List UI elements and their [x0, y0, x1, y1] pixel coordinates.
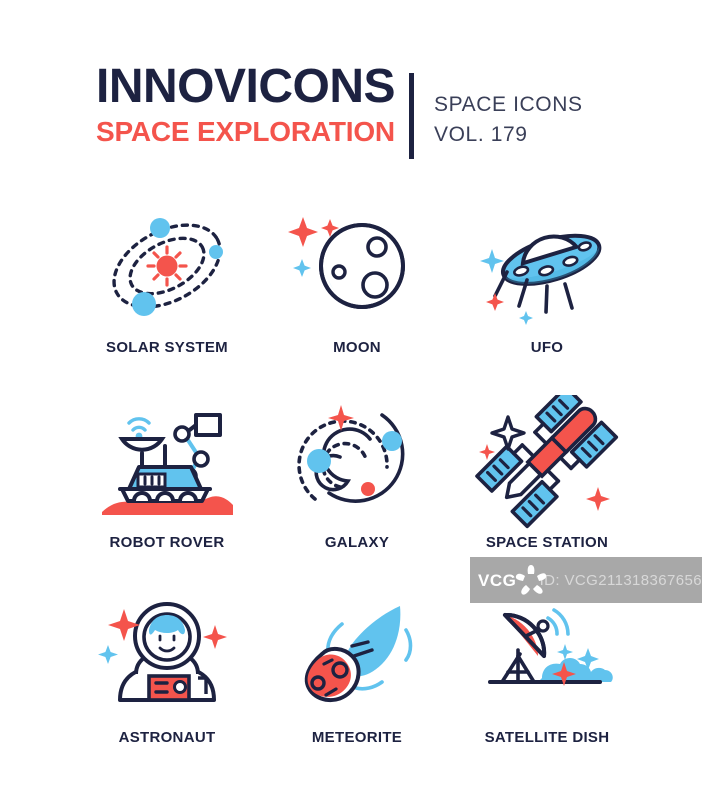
icon-label: ROBOT ROVER	[110, 534, 225, 551]
icon-label: MOON	[333, 339, 381, 356]
icon-label: UFO	[531, 339, 564, 356]
astronaut-icon	[92, 590, 242, 725]
robot-rover-icon	[92, 395, 242, 530]
watermark-logo-text: VCG	[478, 572, 516, 589]
collection-name: SPACE ICONS	[434, 90, 583, 120]
ufo-icon	[472, 200, 622, 335]
watermark-id-text: ID: VCG211318367656	[540, 572, 702, 589]
icon-label: GALAXY	[325, 534, 389, 551]
icon-label: SPACE STATION	[486, 534, 608, 551]
icon-grid: SOLAR SYSTEM	[0, 200, 702, 785]
vcg-flower-icon: VCG	[470, 557, 532, 603]
space-station-icon	[472, 395, 622, 530]
poster-canvas: INNOVICONS SPACE EXPLORATION SPACE ICONS…	[0, 0, 702, 800]
brand-block: INNOVICONS SPACE EXPLORATION	[96, 62, 396, 148]
meta-block: SPACE ICONS VOL. 179	[434, 90, 583, 150]
galaxy-icon	[282, 395, 432, 530]
meteorite-icon	[282, 590, 432, 725]
brand-title: INNOVICONS	[96, 62, 396, 112]
watermark-banner: VCG ID: VCG211318367656	[470, 557, 702, 603]
icon-cell-galaxy[interactable]: GALAXY	[262, 395, 452, 590]
icon-label: METEORITE	[312, 729, 402, 746]
satellite-dish-icon	[472, 590, 622, 725]
icon-label: SOLAR SYSTEM	[106, 339, 228, 356]
icon-cell-robot-rover[interactable]: ROBOT ROVER	[72, 395, 262, 590]
icon-row: SOLAR SYSTEM	[0, 200, 702, 395]
collection-volume: VOL. 179	[434, 120, 583, 150]
icon-cell-satellite-dish[interactable]: SATELLITE DISH	[452, 590, 642, 785]
flower-glyph	[514, 563, 548, 597]
icon-cell-solar-system[interactable]: SOLAR SYSTEM	[72, 200, 262, 395]
icon-cell-ufo[interactable]: UFO	[452, 200, 642, 395]
icon-label: SATELLITE DISH	[485, 729, 610, 746]
icon-label: ASTRONAUT	[119, 729, 216, 746]
brand-subtitle: SPACE EXPLORATION	[96, 116, 396, 148]
icon-cell-astronaut[interactable]: ASTRONAUT	[72, 590, 262, 785]
icon-cell-meteorite[interactable]: METEORITE	[262, 590, 452, 785]
vertical-divider-icon	[409, 73, 414, 159]
solar-system-icon	[92, 200, 242, 335]
icon-cell-moon[interactable]: MOON	[262, 200, 452, 395]
moon-icon	[282, 200, 432, 335]
icon-row: ASTRONAUT	[0, 590, 702, 785]
poster-header: INNOVICONS SPACE EXPLORATION SPACE ICONS…	[0, 62, 702, 170]
